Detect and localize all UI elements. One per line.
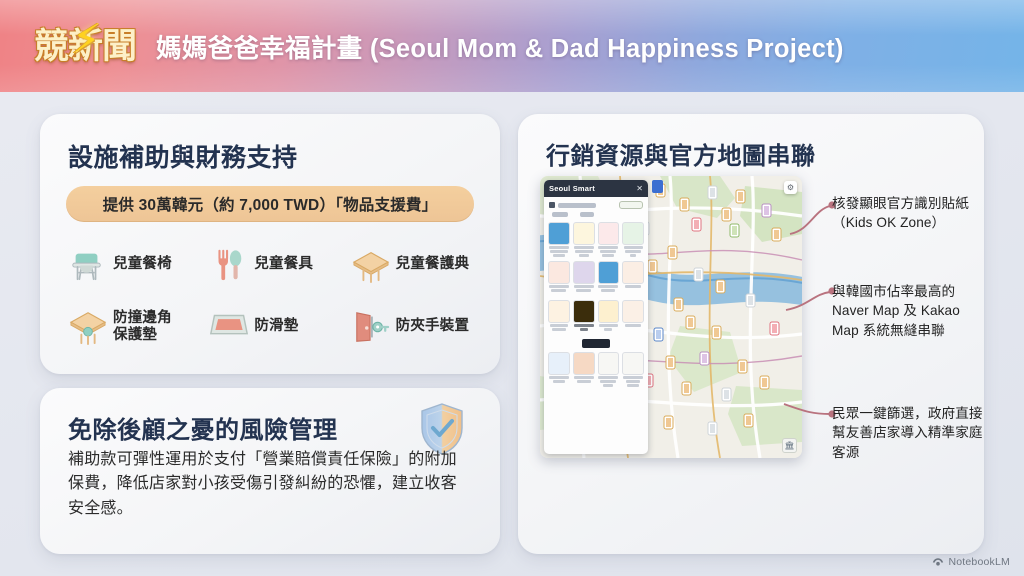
panel-tile[interactable] xyxy=(573,222,595,245)
facility-subsidy-title: 設施補助與財務支持 xyxy=(68,138,298,174)
panel-tile[interactable] xyxy=(573,352,595,375)
panel-logo-icon xyxy=(549,202,555,208)
panel-tile-grid-2[interactable] xyxy=(544,259,648,298)
item-corner-guard: 防撞邊角 保護墊 xyxy=(60,298,201,356)
high-chair-icon xyxy=(68,247,106,283)
supported-items-grid: 兒童餐椅 兒童餐具 xyxy=(60,236,484,356)
panel-subheader xyxy=(544,197,648,210)
risk-management-card: 免除後顧之憂的風險管理 補助款可彈性運用於支付「營業賠償責任保險」的附加保費，降… xyxy=(40,388,500,554)
panel-action-chip[interactable] xyxy=(619,201,643,209)
item-label: 兒童餐具 xyxy=(254,256,313,273)
item-label: 防滑墊 xyxy=(254,318,298,335)
panel-tile[interactable] xyxy=(622,352,644,375)
item-label: 防撞邊角 保護墊 xyxy=(113,310,172,344)
panel-tile[interactable] xyxy=(548,300,570,323)
panel-tile-grid-4[interactable] xyxy=(544,350,648,389)
panel-title: Seoul Smart xyxy=(549,184,595,193)
item-label: 兒童餐護典 xyxy=(396,256,470,273)
item-label: 兒童餐椅 xyxy=(113,256,172,273)
notebooklm-watermark: NotebookLM xyxy=(932,556,1010,568)
marketing-map-card: 行銷資源與官方地圖串聯 xyxy=(518,114,984,554)
page-title: 媽媽爸爸幸福計畫 (Seoul Mom & Dad Happiness Proj… xyxy=(156,28,844,65)
layers-icon[interactable] xyxy=(652,180,663,193)
page-header: 競 新 聞 ⚡ 媽媽爸爸幸福計畫 (Seoul Mom & Dad Happin… xyxy=(0,0,1024,92)
panel-tile[interactable] xyxy=(548,261,570,284)
panel-header: Seoul Smart ✕ xyxy=(544,180,648,197)
item-high-chair: 兒童餐椅 xyxy=(60,236,201,294)
brand-logo: 競 新 聞 ⚡ xyxy=(28,23,142,69)
close-icon[interactable]: ✕ xyxy=(636,184,643,193)
item-label: 防夾手裝置 xyxy=(396,318,470,335)
panel-tile[interactable] xyxy=(573,261,595,284)
gear-icon[interactable]: ⚙ xyxy=(784,181,797,194)
notebooklm-icon xyxy=(932,557,944,568)
panel-tile[interactable] xyxy=(622,300,644,323)
slide-body: 設施補助與財務支持 提供 30萬韓元（約 7,000 TWD）「物品支援費」 兒… xyxy=(0,92,1024,576)
marketing-map-title: 行銷資源與官方地圖串聯 xyxy=(546,136,816,171)
panel-tile[interactable] xyxy=(548,352,570,375)
callout-customer-flow: 民眾一鍵篩選，政府直接幫友善店家導入精準家庭客源 xyxy=(832,404,984,462)
panel-tile-grid-1[interactable] xyxy=(544,220,648,259)
panel-tile[interactable] xyxy=(598,261,620,284)
panel-tile[interactable] xyxy=(598,222,620,245)
panel-tile[interactable] xyxy=(598,352,620,375)
corner-guard-icon xyxy=(68,309,106,345)
anti-slip-mat-icon xyxy=(209,309,247,345)
panel-tile-highlighted[interactable] xyxy=(573,300,595,323)
seoul-smart-map-screenshot[interactable]: Seoul Smart ✕ xyxy=(540,176,802,458)
tab-1[interactable] xyxy=(552,212,568,217)
panel-selected-chip[interactable] xyxy=(582,339,610,348)
watermark-label: NotebookLM xyxy=(948,556,1010,568)
item-anti-slip-mat: 防滑墊 xyxy=(201,298,342,356)
item-table: 兒童餐護典 xyxy=(343,236,484,294)
panel-tile[interactable] xyxy=(622,261,644,284)
callout-kids-ok-zone: 核發顯眼官方識別貼紙（Kids OK Zone） xyxy=(832,194,984,233)
door-finger-guard-icon xyxy=(351,309,389,345)
seoul-smart-panel[interactable]: Seoul Smart ✕ xyxy=(544,180,648,454)
panel-tile[interactable] xyxy=(548,222,570,245)
logo-char-3: 聞 xyxy=(102,29,136,64)
panel-tile[interactable] xyxy=(622,222,644,245)
facility-subsidy-card: 設施補助與財務支持 提供 30萬韓元（約 7,000 TWD）「物品支援費」 兒… xyxy=(40,114,500,374)
building-icon[interactable]: 🏛 xyxy=(782,438,797,453)
panel-tabs[interactable] xyxy=(544,210,648,220)
subsidy-amount-badge: 提供 30萬韓元（約 7,000 TWD）「物品支援費」 xyxy=(66,186,474,222)
item-finger-guard: 防夾手裝置 xyxy=(343,298,484,356)
table-icon xyxy=(351,247,389,283)
callout-map-integration: 與韓國市佔率最高的Naver Map 及 Kakao Map 系統無縫串聯 xyxy=(832,282,984,340)
risk-management-title: 免除後顧之憂的風險管理 xyxy=(68,410,338,445)
panel-tile[interactable] xyxy=(598,300,620,323)
fork-spoon-icon xyxy=(209,247,247,283)
risk-management-body: 補助款可彈性運用於支付「營業賠償責任保險」的附加保費，降低店家對小孩受傷引發糾紛… xyxy=(68,448,472,521)
item-cutlery: 兒童餐具 xyxy=(201,236,342,294)
panel-subtitle-placeholder xyxy=(558,203,596,208)
logo-char-1: 競 xyxy=(34,29,68,64)
panel-tile-grid-3[interactable] xyxy=(544,298,648,337)
tab-2[interactable] xyxy=(580,212,594,217)
lightning-bolt-icon: ⚡ xyxy=(70,16,103,63)
